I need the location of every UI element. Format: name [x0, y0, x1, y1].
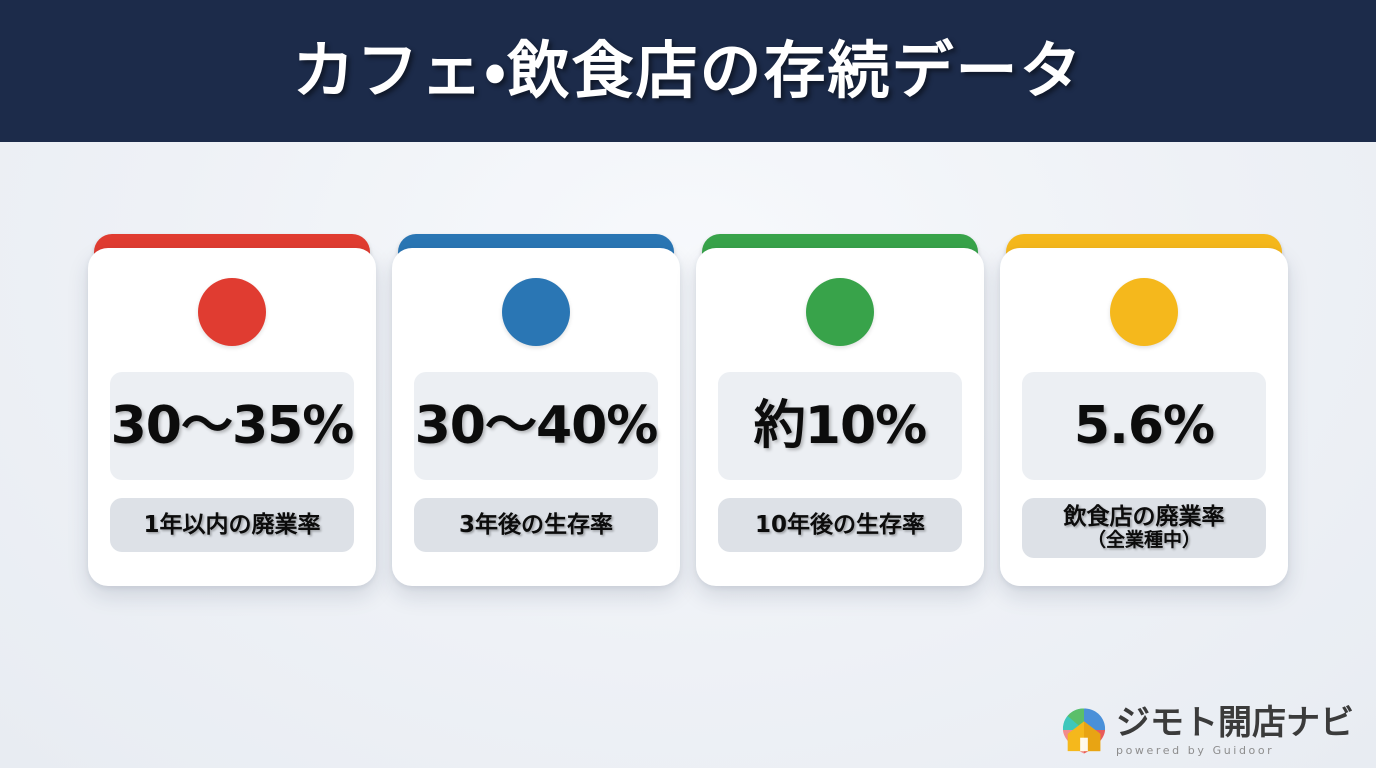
card-label-box-1: 1年以内の廃業率 — [110, 498, 354, 552]
stat-card-row: 30〜35% 1年以内の廃業率 30〜40% 3年後の生存率 — [88, 234, 1288, 586]
card-label-2: 3年後の生存率 — [459, 512, 613, 538]
card-label-3: 10年後の生存率 — [755, 512, 925, 538]
card-label-box-4: 飲食店の廃業率 （全業種中） — [1022, 498, 1266, 558]
card-label-1: 1年以内の廃業率 — [143, 512, 320, 538]
stat-card-1[interactable]: 30〜35% 1年以内の廃業率 — [88, 234, 376, 586]
card-sublabel-4: （全業種中） — [1087, 530, 1201, 552]
card-value-3: 約10% — [754, 400, 926, 452]
circle-icon-2 — [502, 278, 570, 346]
logo-tagline: powered by Guidoor — [1116, 745, 1274, 756]
circle-icon-1 — [198, 278, 266, 346]
card-body-3: 約10% 10年後の生存率 — [696, 248, 984, 586]
page-header: カフェ・飲食店の存続データ — [0, 0, 1376, 142]
card-value-2: 30〜40% — [415, 400, 658, 452]
card-label-box-2: 3年後の生存率 — [414, 498, 658, 552]
content-stage: 30〜35% 1年以内の廃業率 30〜40% 3年後の生存率 — [0, 142, 1376, 768]
card-value-4: 5.6% — [1074, 400, 1214, 452]
stat-card-2[interactable]: 30〜40% 3年後の生存率 — [392, 234, 680, 586]
circle-icon-3 — [806, 278, 874, 346]
stat-card-4[interactable]: 5.6% 飲食店の廃業率 （全業種中） — [1000, 234, 1288, 586]
stat-card-3[interactable]: 約10% 10年後の生存率 — [696, 234, 984, 586]
card-value-box-1: 30〜35% — [110, 372, 354, 480]
logo-name: ジモト開店ナビ — [1116, 706, 1354, 740]
card-value-box-2: 30〜40% — [414, 372, 658, 480]
card-value-1: 30〜35% — [111, 400, 354, 452]
card-label-4: 飲食店の廃業率 — [1064, 504, 1225, 530]
guidoor-pin-house-icon — [1060, 707, 1108, 755]
card-value-box-3: 約10% — [718, 372, 962, 480]
card-body-2: 30〜40% 3年後の生存率 — [392, 248, 680, 586]
card-body-1: 30〜35% 1年以内の廃業率 — [88, 248, 376, 586]
card-label-box-3: 10年後の生存率 — [718, 498, 962, 552]
logo-text-block: ジモト開店ナビ powered by Guidoor — [1116, 706, 1354, 756]
page-title: カフェ・飲食店の存続データ — [292, 40, 1083, 102]
card-body-4: 5.6% 飲食店の廃業率 （全業種中） — [1000, 248, 1288, 586]
brand-logo[interactable]: ジモト開店ナビ powered by Guidoor — [1060, 706, 1354, 756]
circle-icon-4 — [1110, 278, 1178, 346]
card-value-box-4: 5.6% — [1022, 372, 1266, 480]
